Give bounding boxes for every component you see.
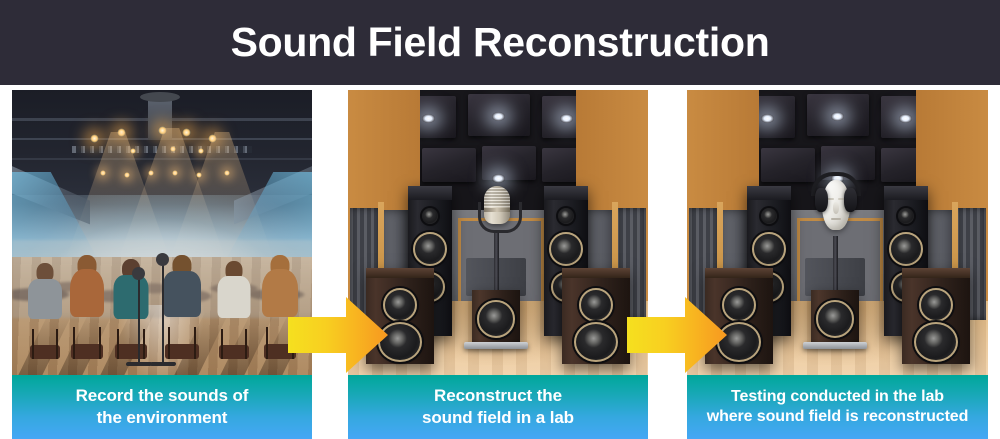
mic-stand-pole [494,230,499,294]
step-2-panel: Reconstruct the sound field in a lab [348,90,648,439]
dummy-head-assembly [811,172,861,238]
listening-lab-dummy-head-photo [687,90,988,375]
microphone-stand [162,259,164,363]
concert-scene [12,90,312,375]
step-2-caption: Reconstruct the sound field in a lab [348,375,648,439]
arrow-right-icon [627,297,727,373]
ceiling-light [560,114,573,123]
acoustic-ceiling-tile [761,148,815,182]
audience-member [104,259,158,359]
ceiling-light [899,114,912,123]
ceiling-light [492,174,505,183]
step-2-caption-line-1: Reconstruct the [422,385,574,407]
stage-lamp [182,128,191,137]
flow-arrow-2 [627,297,727,373]
monitor-speaker-right [902,268,970,364]
microphone-yoke [478,202,522,233]
step-2-caption-line-2: sound field in a lab [422,407,574,429]
ceiling-light [492,112,505,121]
ceiling-fixture [140,92,180,102]
subwoofer [472,290,520,342]
flow-arrow-1 [288,297,388,373]
step-1-caption-line-1: Record the sounds of [76,385,249,407]
lab-scene [687,90,988,375]
subwoofer [811,290,859,342]
acoustic-ceiling-tile [422,148,476,182]
page-header: Sound Field Reconstruction [0,0,1000,85]
lab-scene [348,90,648,375]
ceiling-light [831,112,844,121]
subwoofer-base [803,342,867,349]
monitor-speaker-right [562,268,630,364]
concert-audience-photo [12,90,312,375]
step-1-caption: Record the sounds of the environment [12,375,312,439]
microphone-stand [138,273,140,363]
step-1-panel: Record the sounds of the environment [12,90,312,439]
step-1-caption-line-2: the environment [76,407,249,429]
arrow-right-icon [288,297,388,373]
ceiling-light [761,114,774,123]
stage-lamp [198,148,204,154]
acoustic-ceiling-tile [482,146,536,180]
listening-lab-microphone-photo [348,90,648,375]
ceiling-light [422,114,435,123]
workflow-stage: Record the sounds of the environment [0,85,1000,439]
step-3-caption-line-1: Testing conducted in the lab [707,387,969,407]
step-3-caption-line-2: where sound field is reconstructed [707,407,969,427]
stage-lamp [90,134,99,143]
headphone-cup-right [844,188,857,212]
step-3-caption: Testing conducted in the lab where sound… [687,375,988,439]
headphone-cup-left [815,188,828,212]
page-title: Sound Field Reconstruction [0,0,1000,85]
head-stand-pole [833,236,838,294]
subwoofer-base [464,342,528,349]
step-3-panel: Testing conducted in the lab where sound… [687,90,988,439]
